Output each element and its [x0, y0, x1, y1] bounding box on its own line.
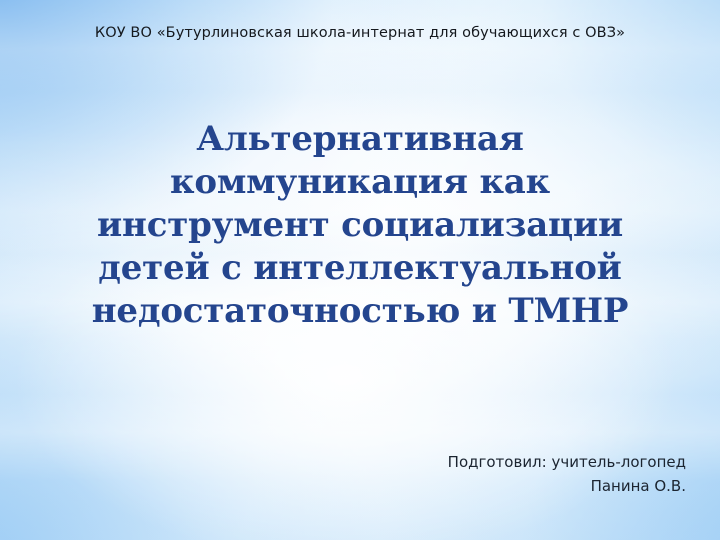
author-role-line: Подготовил: учитель-логопед — [448, 450, 686, 474]
organization-header: КОУ ВО «Бутурлиновская школа-интернат дл… — [0, 25, 720, 41]
title-line-2: коммуникация как — [50, 161, 670, 204]
page-title: Альтернативная коммуникация как инструме… — [50, 118, 670, 333]
title-slide: КОУ ВО «Бутурлиновская школа-интернат дл… — [0, 0, 720, 540]
title-line-5: недостаточностью и ТМНР — [50, 290, 670, 333]
title-line-4: детей с интеллектуальной — [50, 247, 670, 290]
title-line-3: инструмент социализации — [50, 204, 670, 247]
author-name-line: Панина О.В. — [448, 474, 686, 498]
title-line-1: Альтернативная — [50, 118, 670, 161]
author-credit: Подготовил: учитель-логопед Панина О.В. — [448, 450, 686, 498]
slide-content: КОУ ВО «Бутурлиновская школа-интернат дл… — [0, 0, 720, 540]
